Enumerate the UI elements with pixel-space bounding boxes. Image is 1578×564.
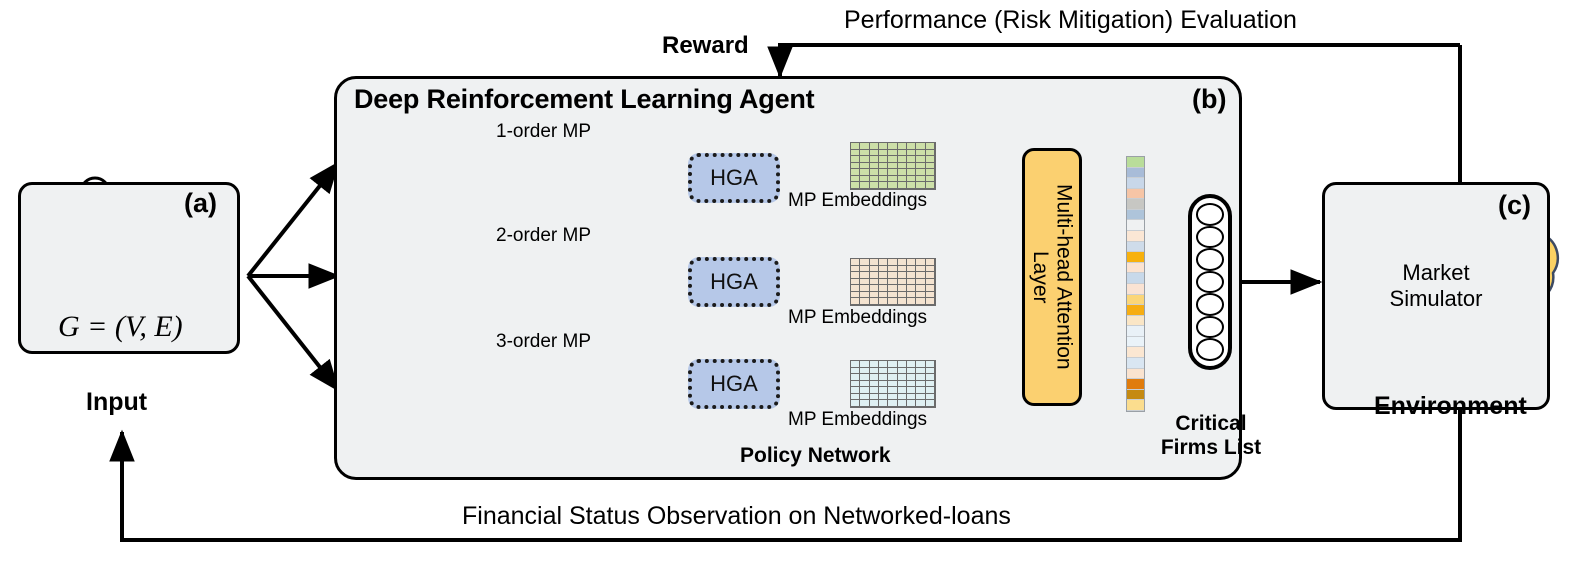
input-panel-tag: (a) [184, 188, 217, 219]
firm-score-strip [1126, 156, 1145, 412]
mp-embeddings-label-2: MP Embeddings [788, 307, 927, 329]
strip-cell [1127, 178, 1144, 189]
critical-firm-node [1196, 271, 1224, 294]
grid-cell [879, 400, 888, 407]
grid-cell [870, 400, 879, 407]
critical-firms-line1: Critical [1150, 412, 1272, 436]
strip-cell [1127, 189, 1144, 200]
strip-cell [1127, 295, 1144, 306]
grid-cell [916, 182, 925, 189]
mp-embeddings-label-1: MP Embeddings [788, 190, 927, 212]
strip-cell [1127, 220, 1144, 231]
strip-cell [1127, 231, 1144, 242]
grid-cell [907, 298, 916, 305]
mp-embeddings-grid-1 [850, 142, 936, 190]
critical-firm-node [1196, 338, 1224, 361]
mp-embeddings-grid-2 [850, 258, 936, 306]
grid-cell [851, 400, 860, 407]
figure-canvas: EFD BCA G [0, 0, 1578, 564]
strip-cell [1127, 379, 1144, 390]
grid-cell [870, 298, 879, 305]
strip-cell [1127, 199, 1144, 210]
environment-panel-tag: (c) [1498, 190, 1531, 221]
reward-label: Reward [662, 32, 749, 60]
agent-panel-tag: (b) [1192, 84, 1226, 115]
strip-cell [1127, 347, 1144, 358]
grid-cell [926, 182, 935, 189]
grid-cell [860, 400, 869, 407]
grid-cell [898, 182, 907, 189]
grid-cell [851, 182, 860, 189]
critical-firm-node [1196, 316, 1224, 339]
grid-cell [851, 298, 860, 305]
critical-firm-node [1196, 248, 1224, 271]
input-graph-formula: G = (V, E) [58, 310, 183, 344]
grid-cell [870, 182, 879, 189]
grid-cell [879, 182, 888, 189]
grid-cell [888, 298, 897, 305]
observation-label: Financial Status Observation on Networke… [462, 502, 1011, 531]
strip-cell [1127, 242, 1144, 253]
grid-cell [860, 182, 869, 189]
strip-cell [1127, 316, 1144, 327]
hga-label-2: HGA [710, 269, 758, 295]
strip-cell [1127, 263, 1144, 274]
strip-cell [1127, 168, 1144, 179]
market-simulator-line1: Market [1374, 260, 1498, 286]
grid-cell [916, 298, 925, 305]
grid-cell [907, 400, 916, 407]
strip-cell [1127, 284, 1144, 295]
market-simulator-label: Market Simulator [1374, 260, 1498, 313]
hga-label-1: HGA [710, 165, 758, 191]
strip-cell [1127, 157, 1144, 168]
strip-cell [1127, 369, 1144, 380]
critical-firms-label: Critical Firms List [1150, 412, 1272, 459]
strip-cell [1127, 273, 1144, 284]
input-caption: Input [86, 388, 147, 417]
grid-cell [888, 182, 897, 189]
strip-cell [1127, 358, 1144, 369]
grid-cell [926, 298, 935, 305]
strip-cell [1127, 252, 1144, 263]
environment-caption: Environment [1374, 392, 1527, 421]
hga-box-3[interactable]: HGA [688, 359, 780, 409]
mp-embeddings-label-3: MP Embeddings [788, 409, 927, 431]
grid-cell [888, 400, 897, 407]
policy-network-label: Policy Network [740, 444, 891, 468]
strip-cell [1127, 337, 1144, 348]
grid-cell [926, 400, 935, 407]
performance-evaluation-label: Performance (Risk Mitigation) Evaluation [844, 6, 1297, 35]
critical-firms-line2: Firms List [1150, 436, 1272, 460]
critical-firm-node [1196, 226, 1224, 249]
attention-layer-label: Multi-head Attention Layer [1028, 184, 1075, 370]
hga-label-3: HGA [710, 371, 758, 397]
strip-cell [1127, 390, 1144, 401]
critical-firm-node [1196, 293, 1224, 316]
market-simulator-line2: Simulator [1374, 286, 1498, 312]
mp-order-label-1: 1-order MP [496, 121, 591, 143]
hga-box-2[interactable]: HGA [688, 257, 780, 307]
critical-firm-node [1196, 203, 1224, 226]
input-to-branch-arrows [248, 163, 338, 390]
mp-embeddings-grid-3 [850, 360, 936, 408]
multi-head-attention-layer[interactable]: Multi-head Attention Layer [1022, 148, 1082, 406]
grid-cell [898, 400, 907, 407]
strip-cell [1127, 210, 1144, 221]
grid-cell [898, 298, 907, 305]
strip-cell [1127, 400, 1144, 411]
strip-cell [1127, 326, 1144, 337]
strip-cell [1127, 305, 1144, 316]
grid-cell [879, 298, 888, 305]
mp-order-label-3: 3-order MP [496, 331, 591, 353]
mp-order-label-2: 2-order MP [496, 225, 591, 247]
hga-box-1[interactable]: HGA [688, 153, 780, 203]
grid-cell [916, 400, 925, 407]
agent-panel-title: Deep Reinforcement Learning Agent [354, 84, 814, 115]
grid-cell [907, 182, 916, 189]
grid-cell [860, 298, 869, 305]
critical-firms-list[interactable] [1188, 194, 1232, 370]
